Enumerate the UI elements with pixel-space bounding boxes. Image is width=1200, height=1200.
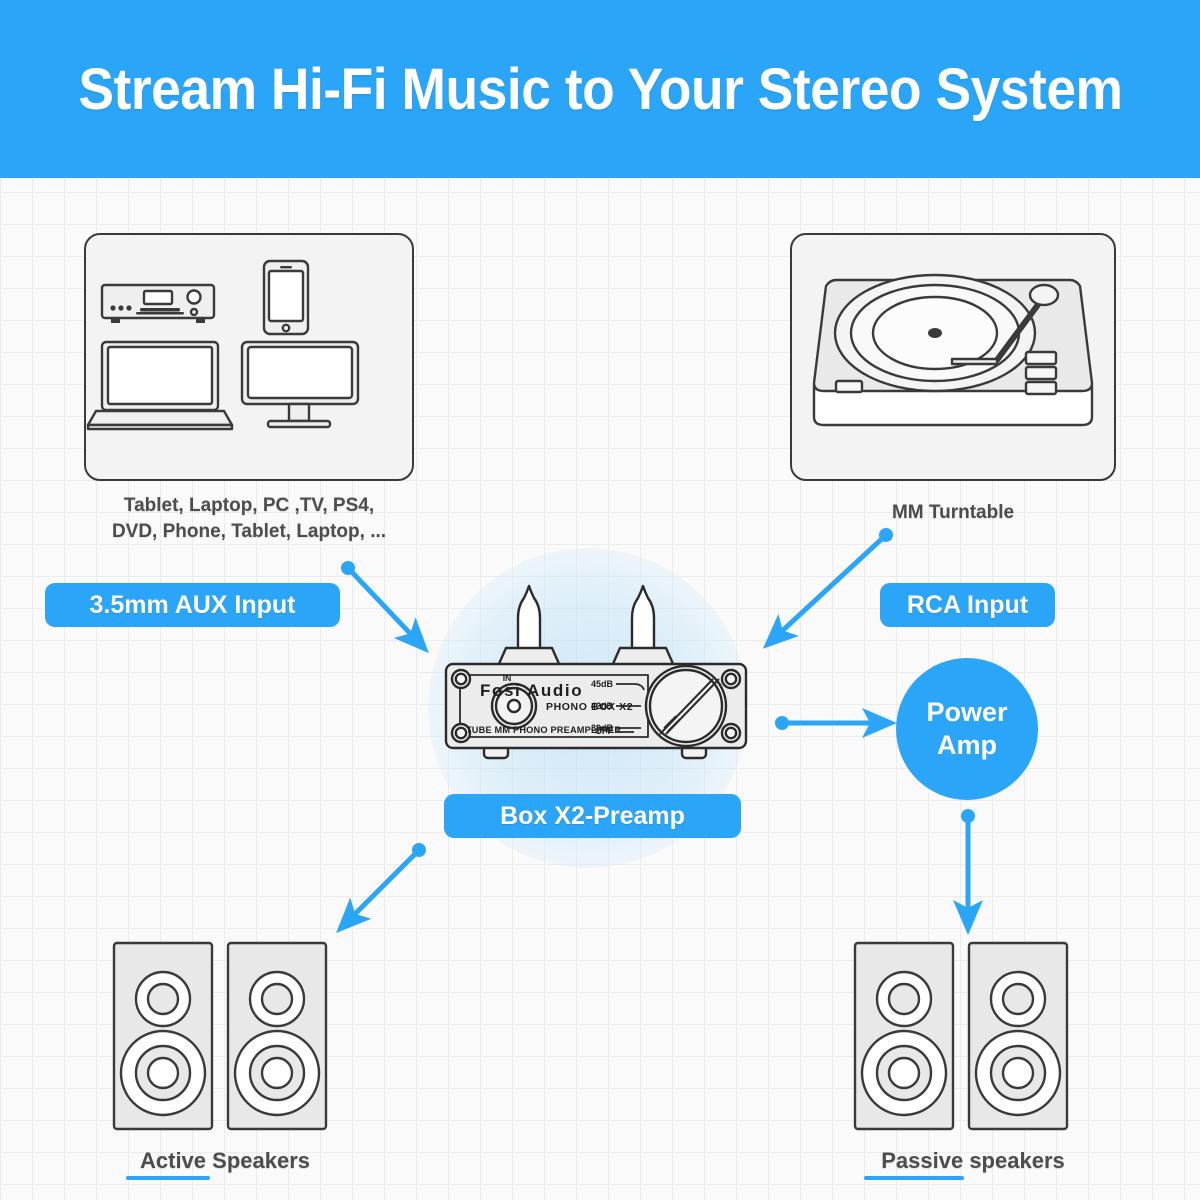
- preamp-device: Fosi Audio IN PHONO BOX X2 TUBE MM PHONO…: [436, 578, 756, 778]
- arrow-rca-to-preamp: [768, 535, 886, 644]
- rca-input-label: RCA Input: [907, 591, 1028, 620]
- device-brand: Fosi Audio: [480, 681, 583, 700]
- power-amp-badge[interactable]: Power Amp: [896, 658, 1038, 800]
- device-input-label: IN: [503, 673, 512, 683]
- arrow-dot-rca: [879, 528, 893, 542]
- passive-speakers-underline: [864, 1176, 964, 1180]
- vacuum-tube-right: [612, 586, 674, 666]
- speaker-icon: [114, 943, 212, 1129]
- gain-label-42db: 42dB: [591, 701, 614, 711]
- speaker-icon: [228, 943, 326, 1129]
- rca-input-pill[interactable]: RCA Input: [880, 583, 1055, 627]
- arrow-dot-active: [412, 843, 426, 857]
- aux-input-pill[interactable]: 3.5mm AUX Input: [45, 583, 340, 627]
- power-amp-label-line1: Power: [926, 696, 1007, 729]
- vacuum-tube-left: [498, 586, 560, 666]
- passive-speakers: [853, 941, 1093, 1133]
- preamp-pill[interactable]: Box X2-Preamp: [444, 794, 741, 838]
- preamp-label: Box X2-Preamp: [500, 802, 685, 831]
- aux-input-label: 3.5mm AUX Input: [89, 591, 295, 620]
- arrow-dot-preamp-out: [775, 716, 789, 730]
- gain-knob: [646, 666, 726, 746]
- power-amp-label-line2: Amp: [926, 729, 1007, 762]
- speaker-icon: [855, 943, 953, 1129]
- active-speakers: [112, 941, 352, 1133]
- active-speakers-underline: [126, 1176, 210, 1180]
- passive-speakers-caption: Passive speakers: [848, 1148, 1098, 1174]
- gain-label-off: OFF: [595, 726, 613, 736]
- speaker-icon: [969, 943, 1067, 1129]
- active-speakers-caption: Active Speakers: [100, 1148, 350, 1174]
- arrow-aux-to-preamp: [348, 568, 424, 648]
- arrow-preamp-to-active-speakers: [341, 850, 419, 928]
- gain-label-45db: 45dB: [591, 679, 614, 689]
- arrow-dot-aux: [341, 561, 355, 575]
- device-model: PHONO BOX X2: [546, 701, 633, 713]
- arrow-dot-passive: [961, 809, 975, 823]
